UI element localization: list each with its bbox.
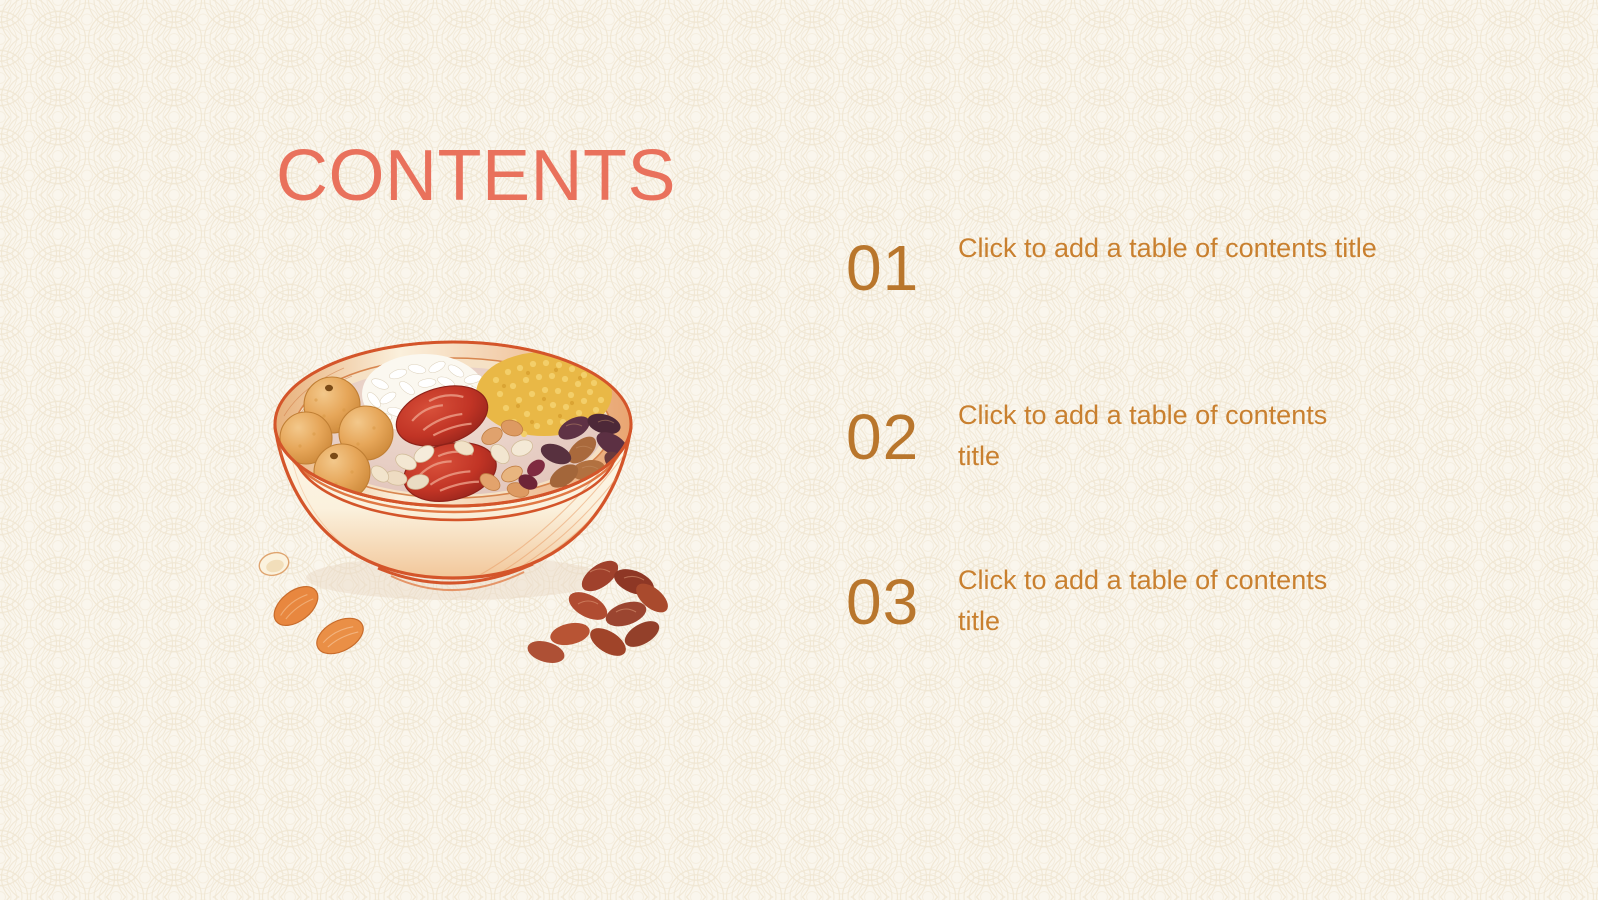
laba-porridge-bowl-illustration bbox=[228, 276, 678, 676]
contents-item-text[interactable]: Click to add a table of contents title bbox=[958, 552, 1458, 642]
contents-item-text[interactable]: Click to add a table of contents title bbox=[958, 222, 1458, 269]
contents-item-number: 02 bbox=[846, 387, 958, 469]
contents-item-01[interactable]: 01 Click to add a table of contents titl… bbox=[846, 222, 1506, 387]
contents-item-number: 01 bbox=[846, 222, 958, 300]
page-title: CONTENTS bbox=[276, 140, 676, 212]
contents-item-03[interactable]: 03 Click to add a table of contents titl… bbox=[846, 552, 1506, 717]
contents-item-number: 03 bbox=[846, 552, 958, 634]
lotus-seed bbox=[257, 549, 292, 578]
contents-list: 01 Click to add a table of contents titl… bbox=[846, 222, 1506, 717]
slide-canvas: CONTENTS 01 Click to add a table of cont… bbox=[0, 0, 1598, 900]
contents-item-text[interactable]: Click to add a table of contents title bbox=[958, 387, 1458, 477]
contents-item-02[interactable]: 02 Click to add a table of contents titl… bbox=[846, 387, 1506, 552]
